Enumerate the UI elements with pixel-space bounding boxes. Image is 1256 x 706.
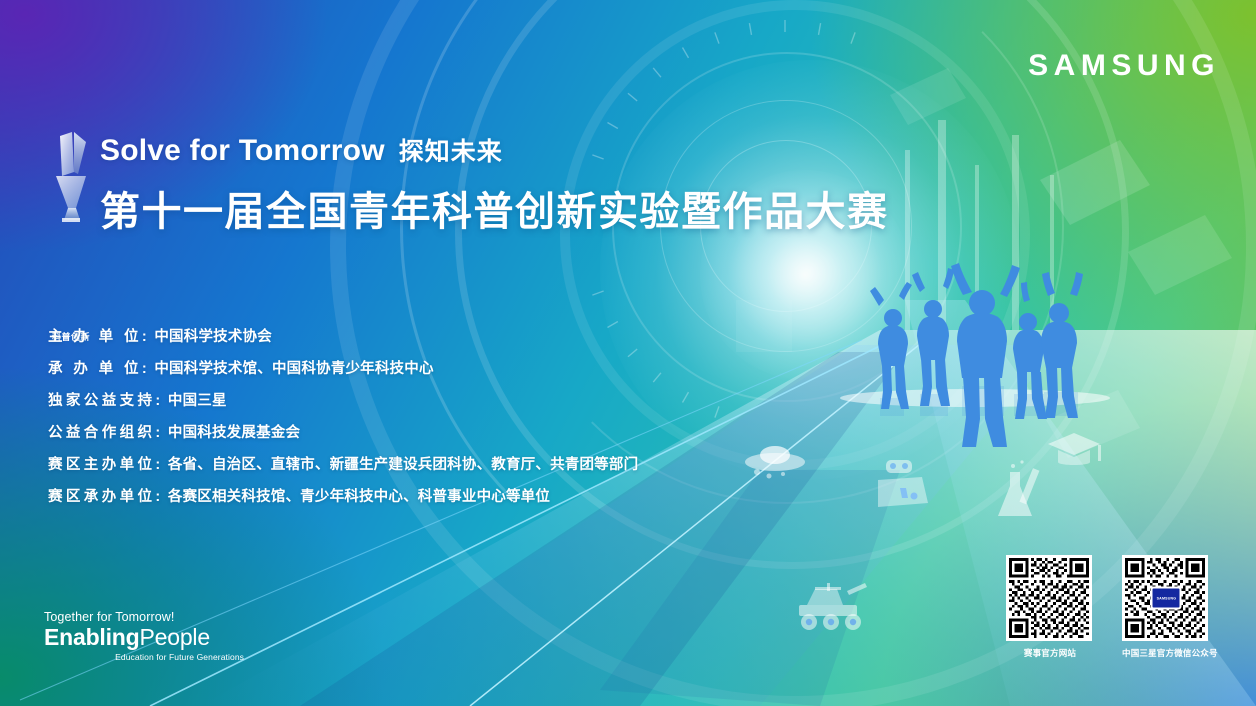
samsung-logo: SAMSUNG — [1028, 49, 1220, 83]
decor-center-glow — [600, 60, 1020, 480]
graduation-cap-icon — [1048, 433, 1101, 465]
organizer-row: 主 办 单 位: 中国科学技术协会 — [48, 325, 638, 346]
flask-icon — [998, 460, 1039, 516]
enabling-people-logo: Together for Tomorrow! EnablingPeople Ed… — [44, 610, 244, 662]
poster-canvas: SAMSUNG 科普创新 Solve for Tomorr — [0, 0, 1256, 706]
qr-caption-wechat: 中国三星官方微信公众号 — [1122, 647, 1210, 659]
organizer-label: 承 办 单 位: — [48, 361, 150, 377]
tagline-en: Solve for Tomorrow — [100, 134, 385, 167]
enabling-subtitle: Education for Future Generations — [44, 652, 244, 662]
person-silhouette-2 — [912, 268, 954, 406]
qr-code-website[interactable]: 赛事官方网站 — [1006, 555, 1094, 659]
qr-caption-website: 赛事官方网站 — [1006, 647, 1094, 659]
person-silhouette-1 — [870, 282, 912, 409]
robot-icon — [878, 460, 928, 507]
samsung-qr-badge: SAMSUNG — [1151, 587, 1182, 610]
enabling-word-light: People — [140, 624, 210, 650]
organizer-label: 公益合作组织: — [48, 425, 164, 441]
person-silhouette-5 — [1041, 272, 1083, 418]
organizer-row: 赛区承办单位: 各赛区相关科技馆、青少年科技中心、科普事业中心等单位 — [48, 485, 638, 506]
organizer-label: 主 办 单 位: — [48, 329, 150, 345]
organizer-row: 承 办 单 位: 中国科学技术馆、中国科协青少年科技中心 — [48, 357, 638, 378]
rover-icon — [799, 583, 867, 630]
organizer-value: 中国三星 — [168, 393, 227, 409]
competition-emblem: 科普创新 — [38, 128, 104, 236]
organizer-value: 中国科技发展基金会 — [168, 425, 300, 441]
organizer-row: 赛区主办单位: 各省、自治区、直辖市、新疆生产建设兵团科协、教育厅、共青团等部门 — [48, 453, 638, 474]
trophy-icon — [38, 128, 104, 236]
qr-code-wechat[interactable]: SAMSUNG 中国三星官方微信公众号 — [1122, 555, 1210, 659]
organizer-list: 主 办 单 位: 中国科学技术协会 承 办 单 位: 中国科学技术馆、中国科协青… — [48, 325, 638, 517]
enabling-word-bold: Enabling — [44, 624, 140, 650]
qr-code-image[interactable] — [1006, 555, 1092, 641]
organizer-value: 各赛区相关科技馆、青少年科技中心、科普事业中心等单位 — [168, 489, 550, 505]
organizer-label: 赛区主办单位: — [48, 457, 164, 473]
organizer-value: 中国科学技术协会 — [154, 329, 272, 345]
title-block: Solve for Tomorrow探知未来 第十一届全国青年科普创新实验暨作品… — [100, 132, 889, 237]
organizer-row: 独家公益支持: 中国三星 — [48, 389, 638, 410]
person-silhouette-4 — [1013, 282, 1052, 419]
decor-ring-arc-1 — [400, 0, 1176, 616]
enabling-tagline: Together for Tomorrow! — [44, 610, 244, 624]
tagline-row: Solve for Tomorrow探知未来 — [100, 132, 889, 170]
samsung-qr-badge-label: SAMSUNG — [1156, 596, 1176, 601]
page-title: 第十一届全国青年科普创新实验暨作品大赛 — [100, 179, 889, 237]
organizer-value: 各省、自治区、直辖市、新疆生产建设兵团科协、教育厅、共青团等部门 — [168, 457, 638, 473]
qr-code-group: 赛事官方网站 — [1006, 555, 1210, 659]
organizer-row: 公益合作组织: 中国科技发展基金会 — [48, 421, 638, 442]
person-silhouette-3 — [951, 263, 1020, 447]
organizer-label: 赛区承办单位: — [48, 489, 164, 505]
enabling-title: EnablingPeople — [44, 625, 244, 649]
tagline-cn: 探知未来 — [399, 138, 503, 166]
organizer-value: 中国科学技术馆、中国科协青少年科技中心 — [154, 361, 433, 377]
organizer-label: 独家公益支持: — [48, 393, 164, 409]
ufo-icon — [745, 446, 805, 479]
